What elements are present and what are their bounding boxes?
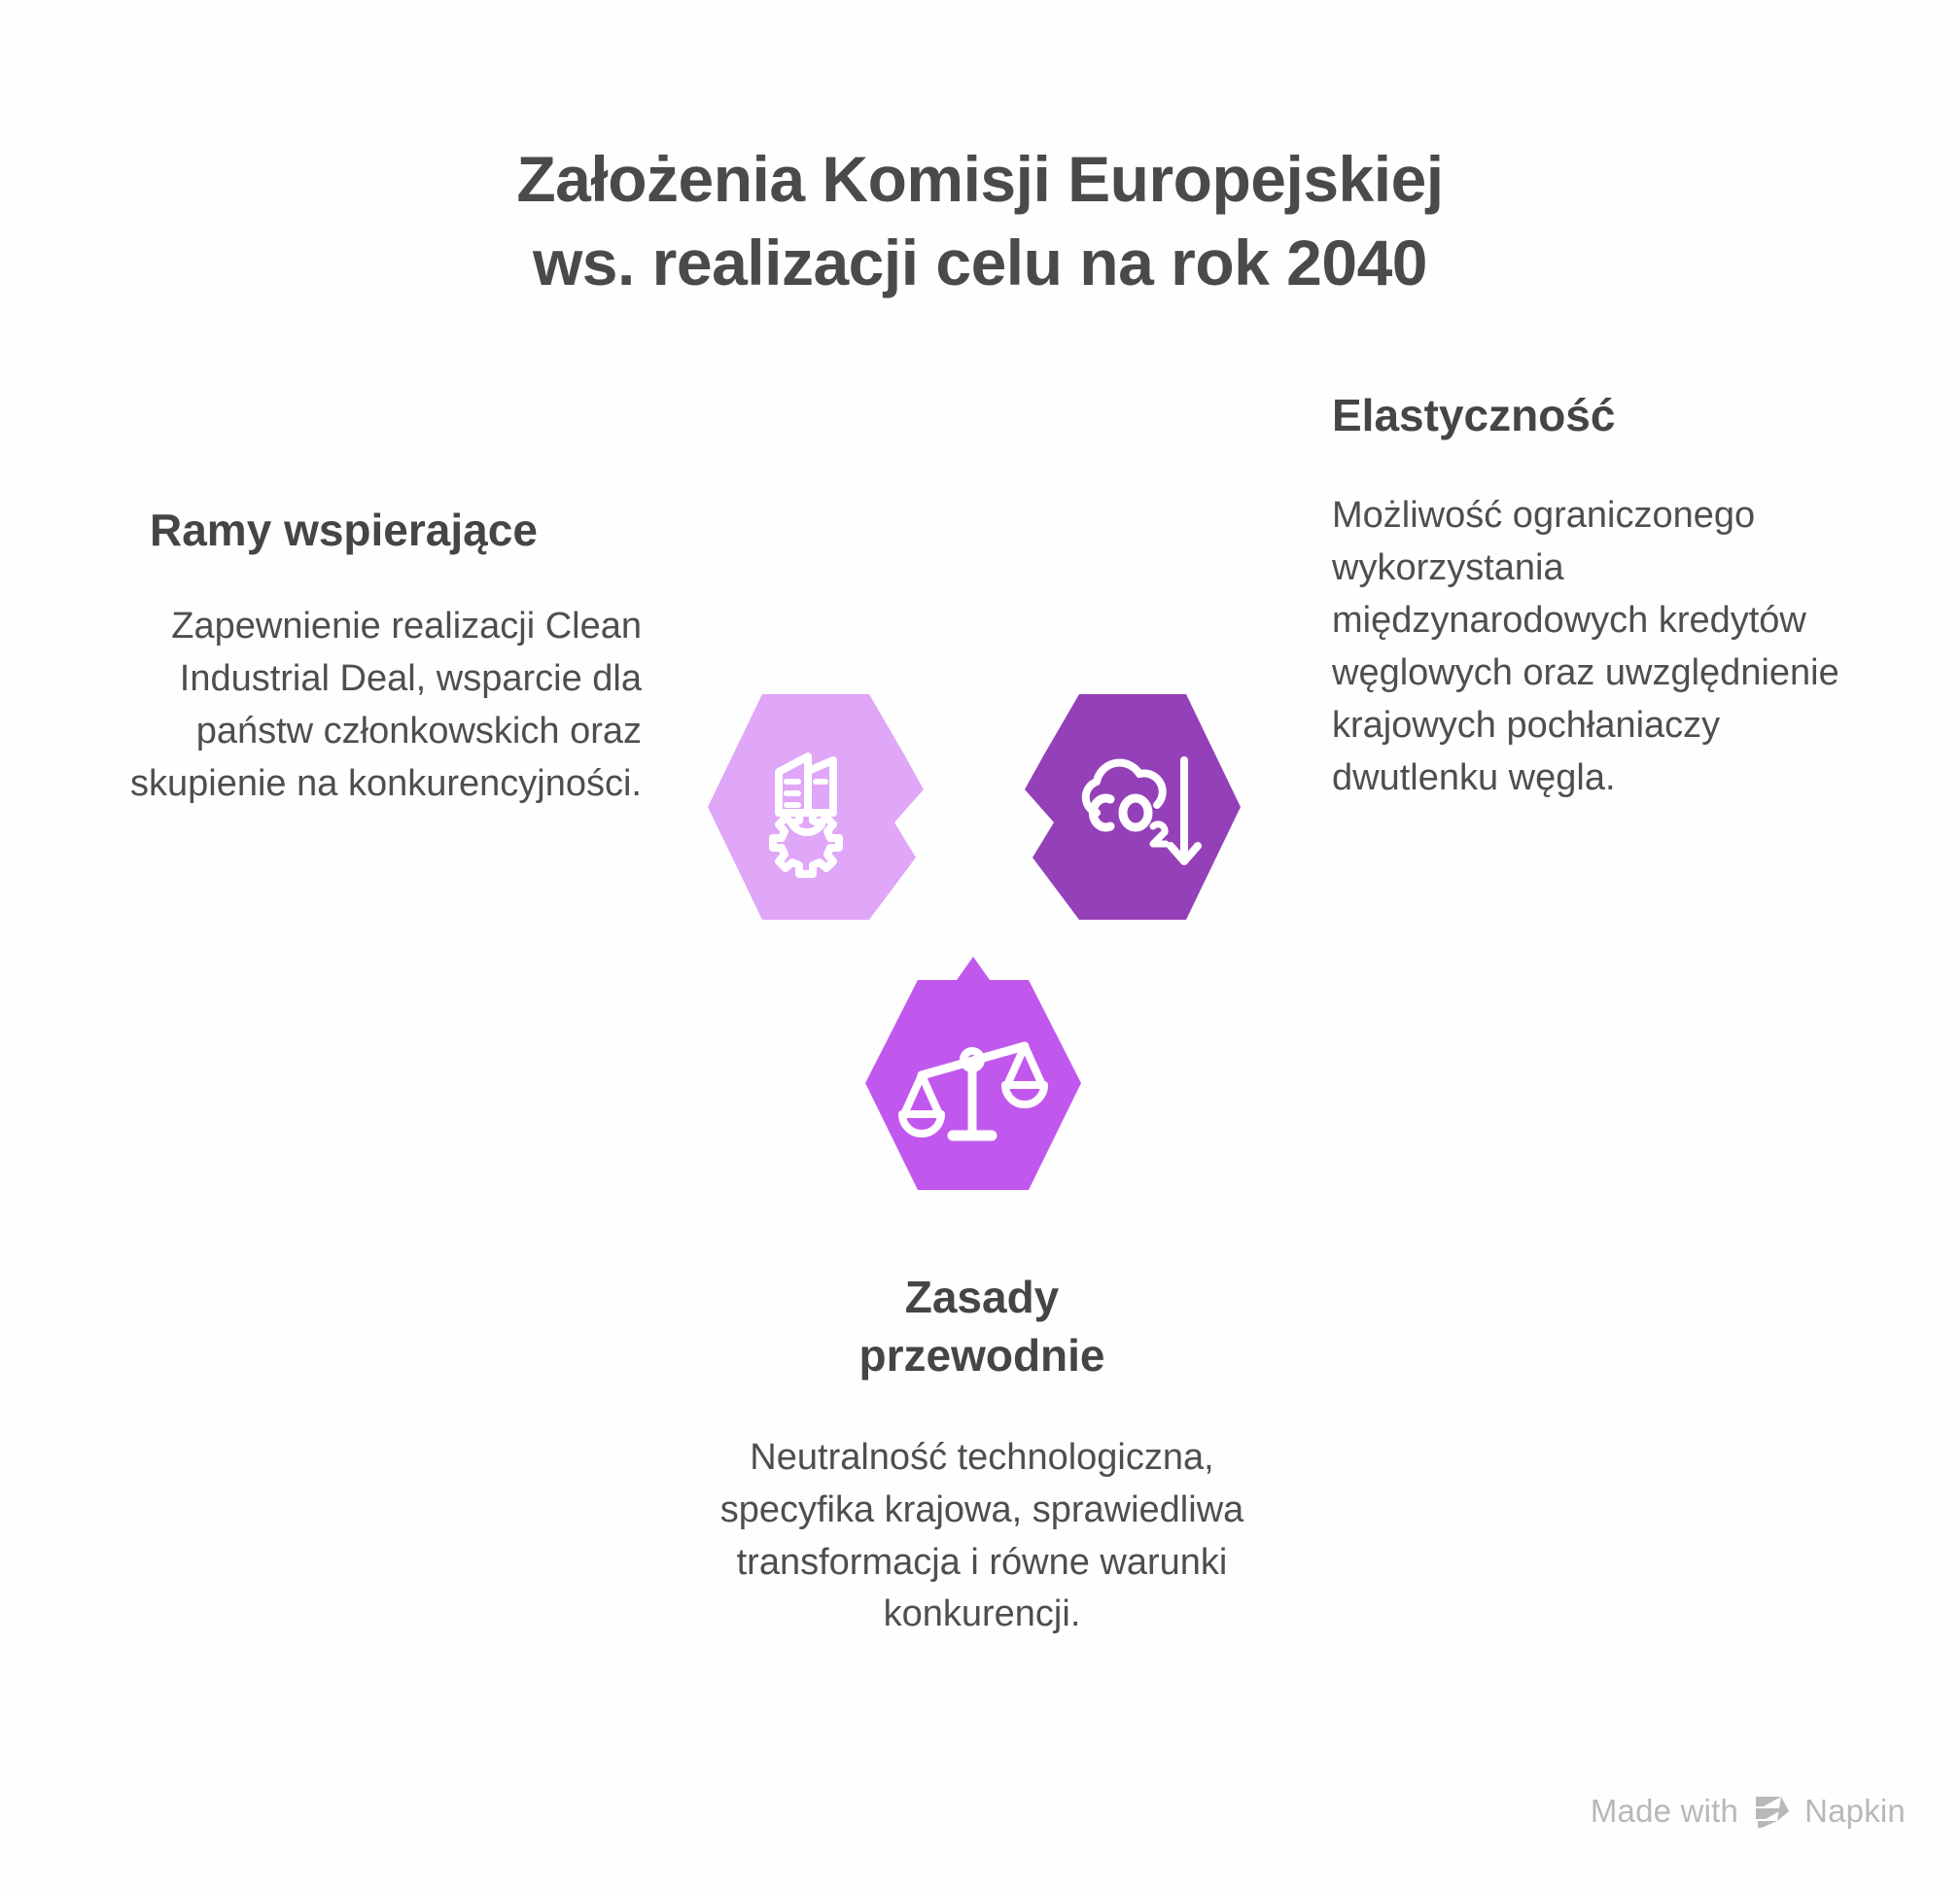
block-zasady-przewodnie: Zasady przewodnie Neutralność technologi… xyxy=(710,1269,1254,1641)
block-right-heading: Elastyczność xyxy=(1332,387,1876,445)
page-title-line-2: ws. realizacji celu na rok 2040 xyxy=(0,222,1960,305)
hexagon-left-shape xyxy=(704,692,927,922)
block-ramy-wspierajace: Ramy wspierające Zapewnienie realizacji … xyxy=(97,502,642,811)
page-title-line-1: Założenia Komisji Europejskiej xyxy=(0,138,1960,222)
hexagon-zasady-przewodnie[interactable] xyxy=(861,955,1085,1196)
block-bottom-body: Neutralność technologiczna, specyfika kr… xyxy=(710,1432,1254,1642)
block-elastycznosc: Elastyczność Możliwość ograniczonego wyk… xyxy=(1332,387,1876,805)
hexagon-bottom-shape xyxy=(861,955,1085,1196)
block-right-body: Możliwość ograniczonego wykorzystania mi… xyxy=(1332,490,1876,805)
block-bottom-heading: Zasady przewodnie xyxy=(710,1269,1254,1385)
hexagon-left-fill xyxy=(708,694,924,920)
block-left-heading: Ramy wspierające xyxy=(97,502,642,560)
watermark: Made with Napkin xyxy=(1591,1793,1906,1830)
block-left-body: Zapewnienie realizacji Clean Industrial … xyxy=(97,601,642,811)
block-bottom-heading-line-1: Zasady xyxy=(710,1269,1254,1327)
hexagon-ramy-wspierajace[interactable] xyxy=(704,692,927,922)
hexagon-right-fill xyxy=(1025,694,1241,920)
page-title: Założenia Komisji Europejskiej ws. reali… xyxy=(0,138,1960,305)
infographic-canvas: Założenia Komisji Europejskiej ws. reali… xyxy=(0,0,1960,1890)
watermark-prefix: Made with xyxy=(1591,1793,1738,1830)
hexagon-elastycznosc[interactable] xyxy=(1021,692,1244,922)
hexagon-right-shape xyxy=(1021,692,1244,922)
watermark-brand: Napkin xyxy=(1804,1793,1906,1830)
block-bottom-heading-line-2: przewodnie xyxy=(710,1327,1254,1385)
napkin-chevron-logo xyxy=(1752,1795,1791,1828)
